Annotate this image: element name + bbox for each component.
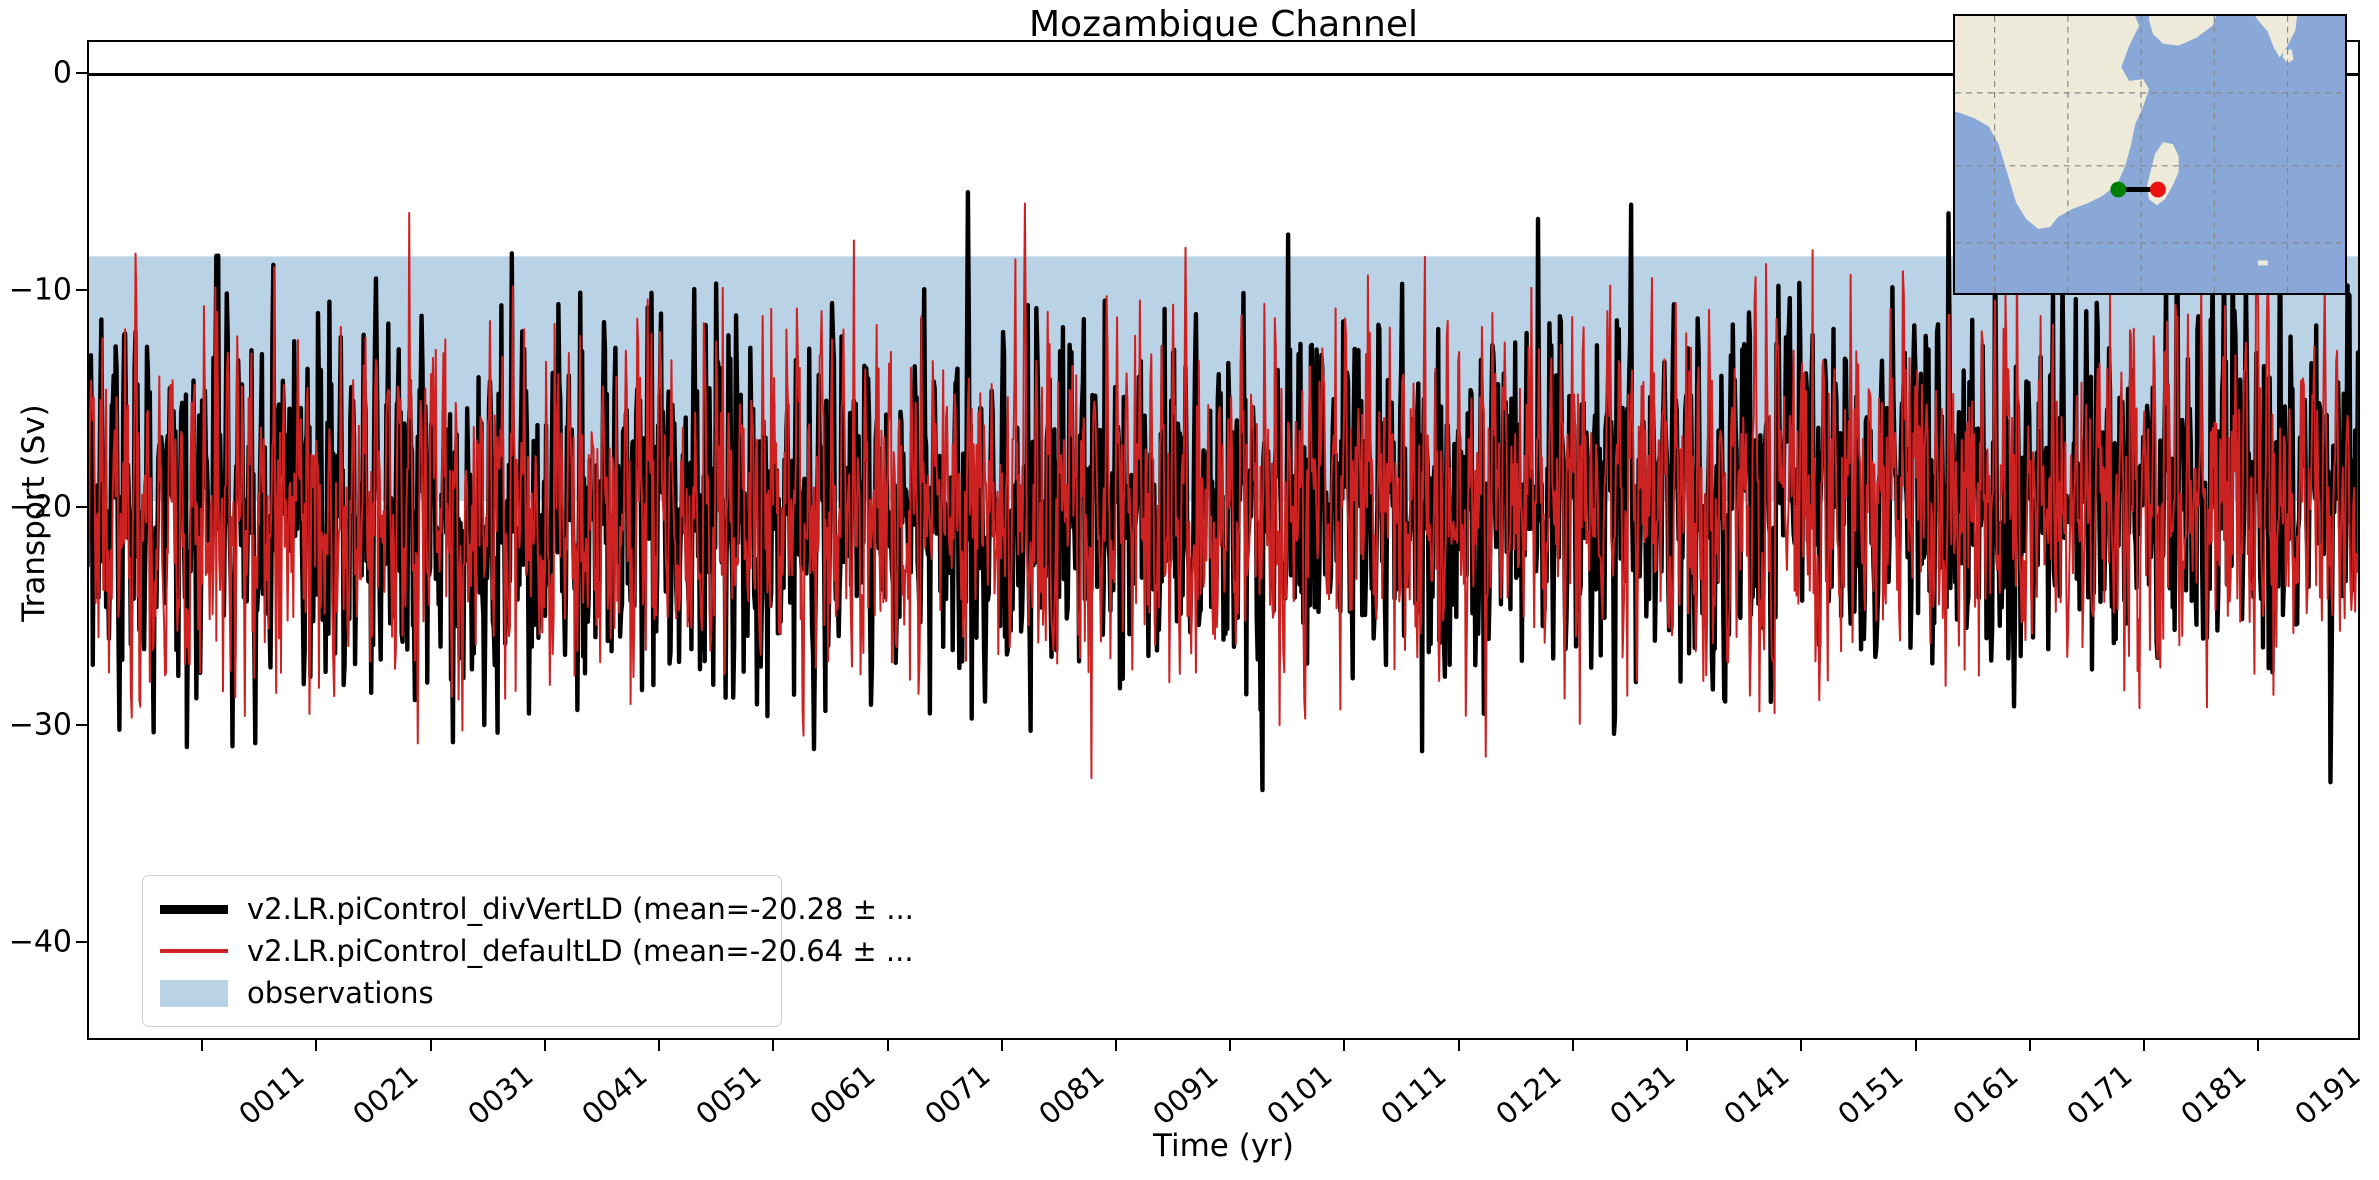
x-tick-label: 0061 — [804, 1058, 882, 1131]
transect-start-marker — [2110, 182, 2126, 198]
x-tick-mark — [1229, 1040, 1231, 1051]
transect-end-marker — [2150, 182, 2166, 198]
y-tick-mark — [76, 941, 87, 943]
inset-map-graphic — [1955, 16, 2345, 293]
x-tick-mark — [2257, 1040, 2259, 1051]
legend-item-observations[interactable]: observations — [157, 972, 767, 1014]
x-tick-mark — [1800, 1040, 1802, 1051]
x-tick-label: 0191 — [2288, 1058, 2366, 1131]
x-tick-mark — [430, 1040, 432, 1051]
map-land-small-island — [2258, 260, 2268, 265]
x-tick-label: 0171 — [2060, 1058, 2138, 1131]
legend-item-defaultLD[interactable]: v2.LR.piControl_defaultLD (mean=-20.64 ±… — [157, 930, 767, 972]
x-tick-label: 0141 — [1717, 1058, 1795, 1131]
y-tick-mark — [76, 72, 87, 74]
x-tick-label: 0161 — [1946, 1058, 2024, 1131]
x-tick-mark — [887, 1040, 889, 1051]
x-tick-label: 0081 — [1032, 1058, 1110, 1131]
x-tick-label: 0091 — [1146, 1058, 1224, 1131]
x-tick-label: 0151 — [1832, 1058, 1910, 1131]
x-tick-mark — [1458, 1040, 1460, 1051]
legend-label-observations: observations — [247, 976, 434, 1010]
x-tick-label: 0041 — [575, 1058, 653, 1131]
x-tick-mark — [1343, 1040, 1345, 1051]
x-tick-mark — [2029, 1040, 2031, 1051]
x-tick-mark — [315, 1040, 317, 1051]
x-tick-mark — [1915, 1040, 1917, 1051]
legend-item-divVertLD[interactable]: v2.LR.piControl_divVertLD (mean=-20.28 ±… — [157, 888, 767, 930]
x-axis-label: Time (yr) — [87, 1128, 2360, 1164]
y-tick-mark — [76, 506, 87, 508]
x-tick-mark — [1572, 1040, 1574, 1051]
inset-location-map[interactable] — [1953, 14, 2347, 295]
legend-swatch-observations-patch — [157, 980, 231, 1007]
legend: v2.LR.piControl_divVertLD (mean=-20.28 ±… — [142, 875, 782, 1027]
x-tick-label: 0011 — [232, 1058, 310, 1131]
legend-label-defaultLD: v2.LR.piControl_defaultLD (mean=-20.64 ±… — [247, 934, 914, 968]
x-tick-label: 0121 — [1489, 1058, 1567, 1131]
y-tick-mark — [76, 289, 87, 291]
x-tick-label: 0071 — [918, 1058, 996, 1131]
x-tick-mark — [1115, 1040, 1117, 1051]
x-tick-label: 0131 — [1603, 1058, 1681, 1131]
legend-swatch-red-line — [157, 949, 231, 952]
legend-swatch-black-line — [157, 905, 231, 914]
x-tick-label: 0031 — [461, 1058, 539, 1131]
x-tick-mark — [772, 1040, 774, 1051]
x-tick-label: 0111 — [1375, 1058, 1453, 1131]
legend-label-divVertLD: v2.LR.piControl_divVertLD (mean=-20.28 ±… — [247, 892, 914, 926]
figure-canvas: Mozambique Channel Transport (Sv) Time (… — [0, 0, 2379, 1180]
x-tick-mark — [658, 1040, 660, 1051]
x-tick-mark — [2143, 1040, 2145, 1051]
x-tick-label: 0021 — [347, 1058, 425, 1131]
x-axis-tick-labels: 0011002100310041005100610071008100910101… — [87, 1040, 2360, 1130]
y-tick-mark — [76, 724, 87, 726]
x-tick-mark — [1001, 1040, 1003, 1051]
x-tick-mark — [1686, 1040, 1688, 1051]
x-tick-label: 0181 — [2174, 1058, 2252, 1131]
x-tick-label: 0051 — [689, 1058, 767, 1131]
x-tick-mark — [544, 1040, 546, 1051]
x-tick-label: 0101 — [1260, 1058, 1338, 1131]
x-tick-mark — [201, 1040, 203, 1051]
